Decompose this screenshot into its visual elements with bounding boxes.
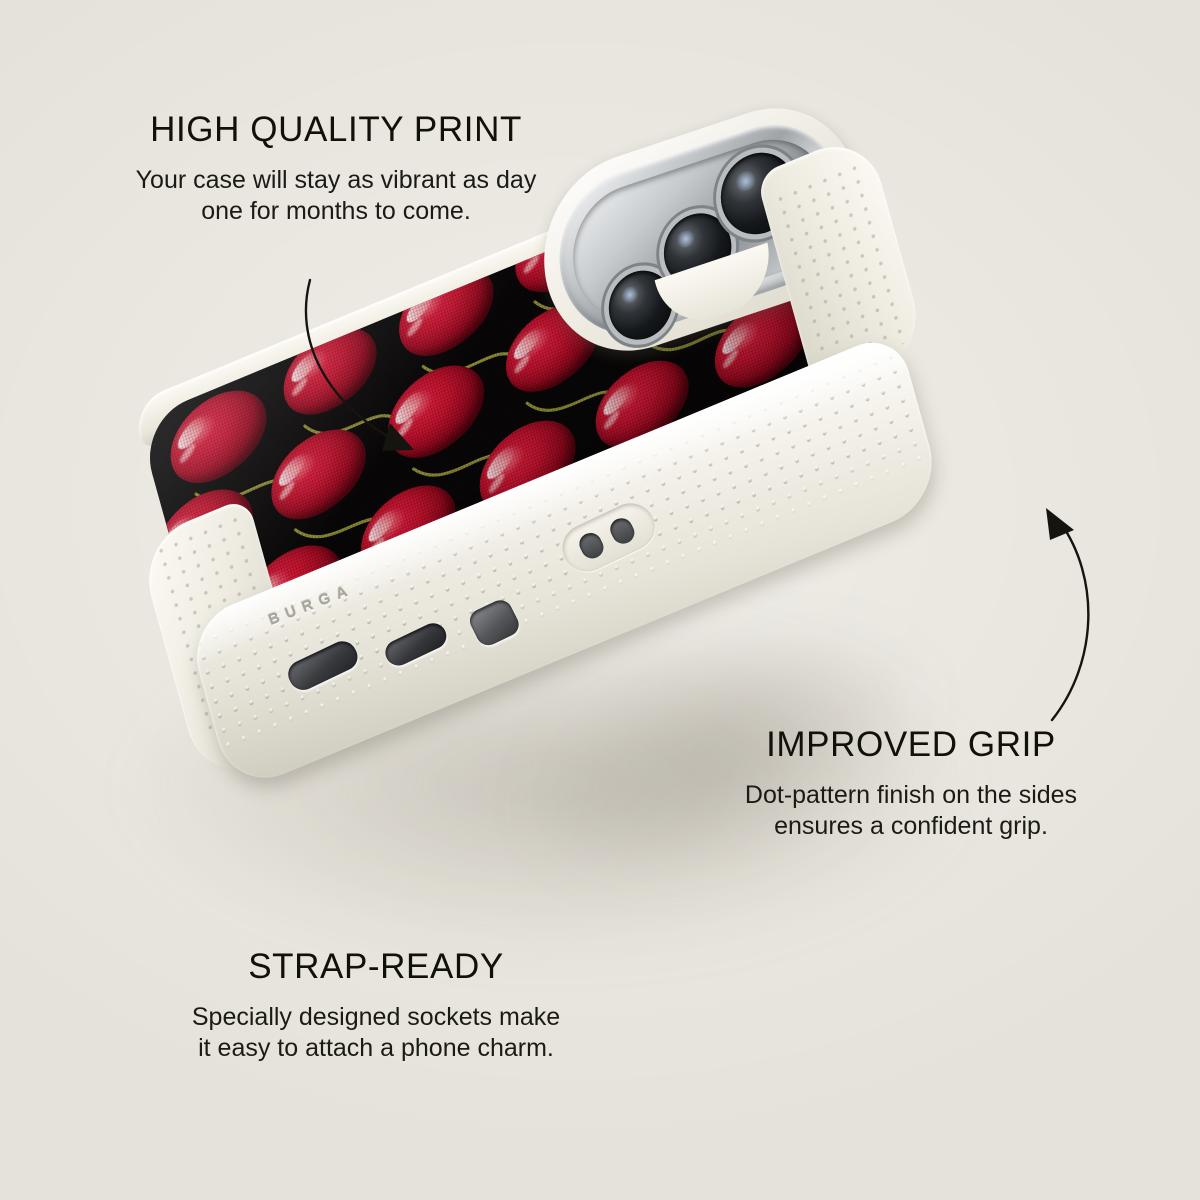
curved-arrow-down-right-icon bbox=[286, 262, 446, 462]
callout-improved-grip: IMPROVED GRIP Dot-pattern finish on the … bbox=[676, 727, 1146, 843]
callout-body-line-2: ensures a confident grip. bbox=[676, 811, 1146, 843]
callout-body-line-1: Specially designed sockets make bbox=[96, 1002, 656, 1034]
callout-heading: IMPROVED GRIP bbox=[676, 727, 1146, 764]
strap-socket-hole-2 bbox=[607, 515, 639, 548]
callout-body-line-2: it easy to attach a phone charm. bbox=[96, 1033, 656, 1065]
callout-body-line-1: Your case will stay as vibrant as day bbox=[46, 165, 626, 197]
callout-body: Specially designed sockets make it easy … bbox=[96, 1002, 656, 1065]
callout-body-line-1: Dot-pattern finish on the sides bbox=[676, 780, 1146, 812]
callout-body: Your case will stay as vibrant as day on… bbox=[46, 165, 626, 228]
callout-heading: STRAP-READY bbox=[96, 949, 656, 986]
callout-strap-ready: STRAP-READY Specially designed sockets m… bbox=[96, 949, 656, 1065]
callout-body: Dot-pattern finish on the sides ensures … bbox=[676, 780, 1146, 843]
callout-heading: HIGH QUALITY PRINT bbox=[46, 112, 626, 149]
product-feature-image: BURGA HIGH QUALITY PRINT Your case will … bbox=[0, 0, 1200, 1200]
callout-high-quality-print: HIGH QUALITY PRINT Your case will stay a… bbox=[46, 112, 626, 228]
callout-body-line-2: one for months to come. bbox=[46, 196, 626, 228]
curved-arrow-up-left-icon bbox=[1002, 492, 1142, 732]
strap-socket-hole-1 bbox=[576, 529, 608, 562]
